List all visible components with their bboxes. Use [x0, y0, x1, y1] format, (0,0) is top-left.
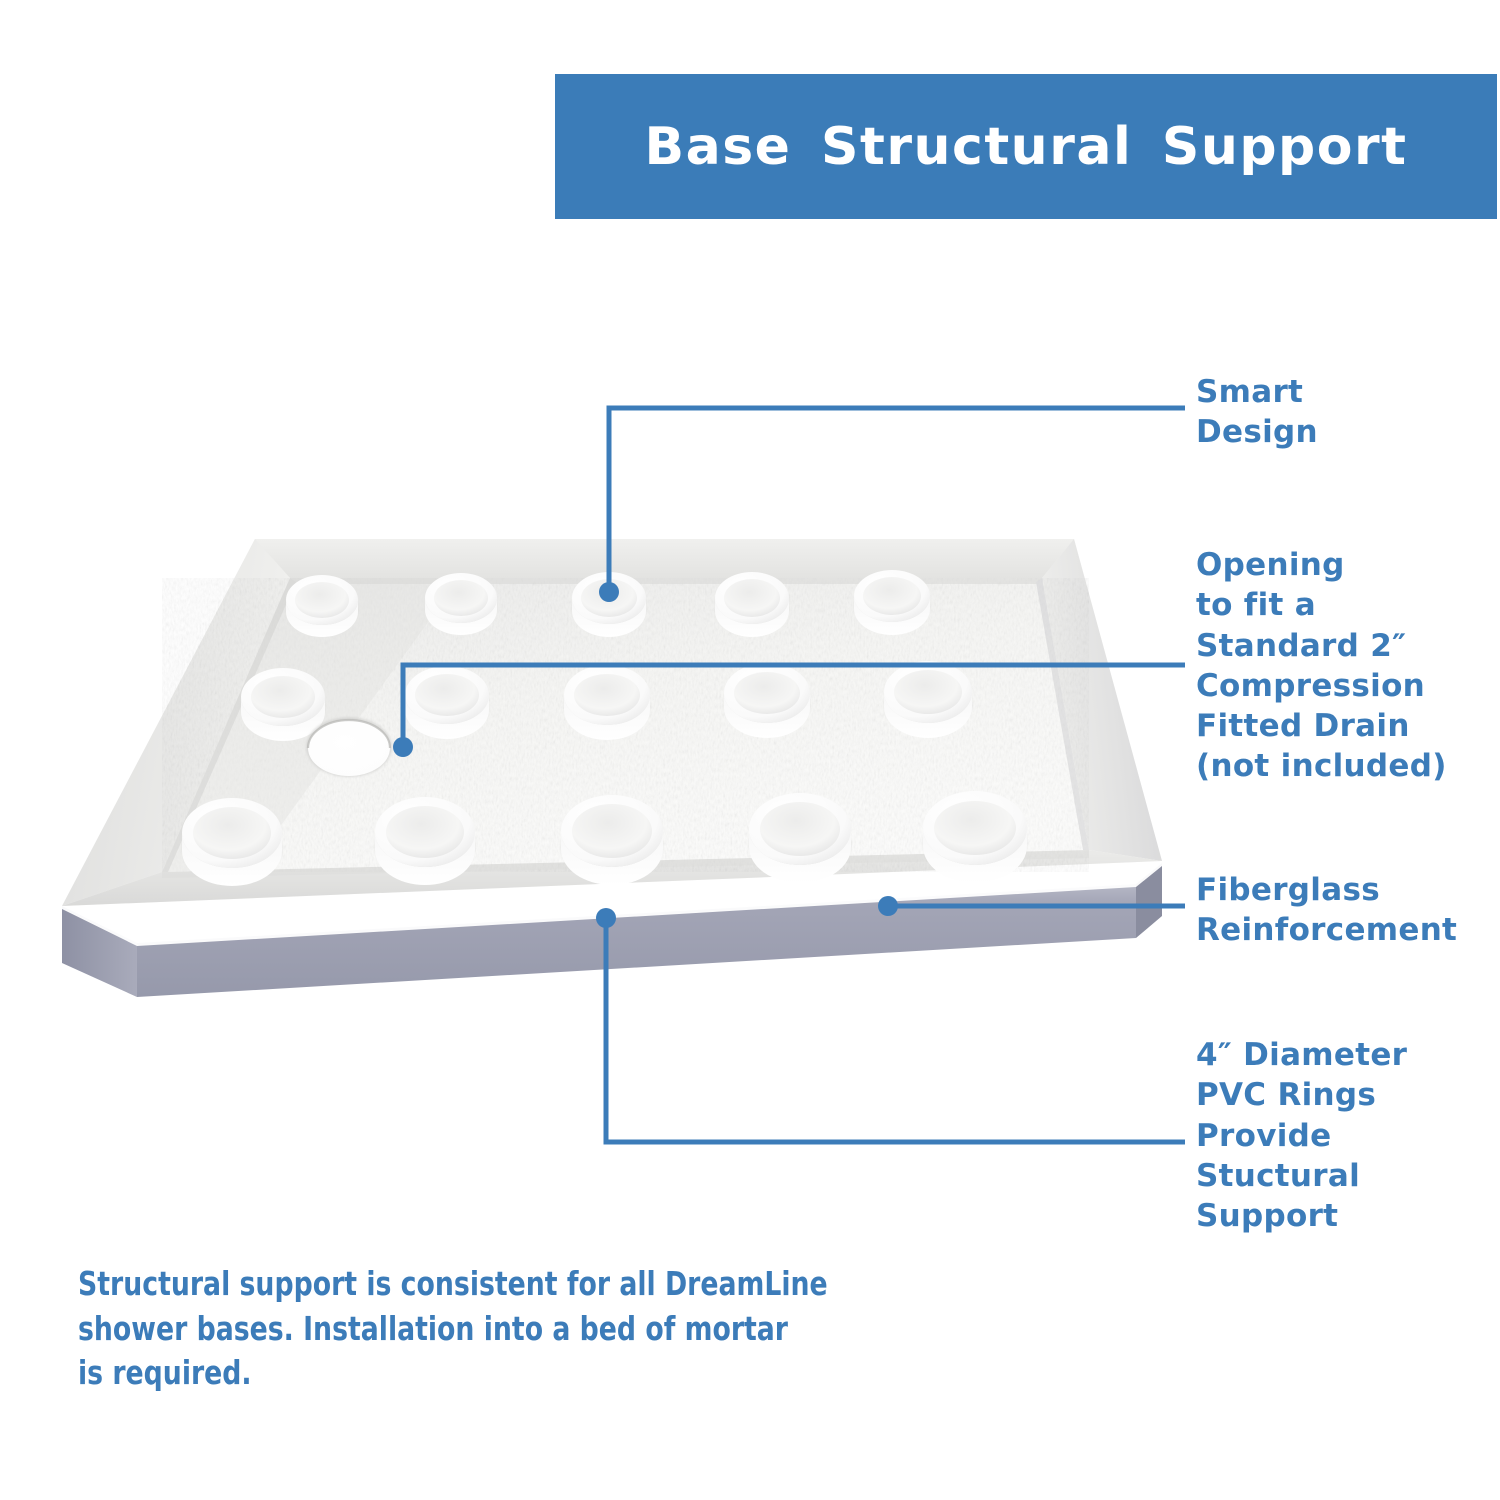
product-illustration — [40, 500, 1180, 1000]
callout-drain-opening: Opening to fit a Standard 2″ Compression… — [1196, 545, 1496, 787]
footnote-text: Structural support is consistent for all… — [78, 1262, 888, 1396]
callout-smart-design: Smart Design — [1196, 372, 1496, 453]
callout-fiberglass-reinforcement: Fiberglass Reinforcement — [1196, 870, 1496, 951]
drain-opening — [306, 717, 392, 777]
header-banner: Base Structural Support — [555, 74, 1497, 219]
callout-pvc-rings: 4″ Diameter PVC Rings Provide Stuctural … — [1196, 1035, 1496, 1236]
page-title: Base Structural Support — [644, 117, 1407, 177]
